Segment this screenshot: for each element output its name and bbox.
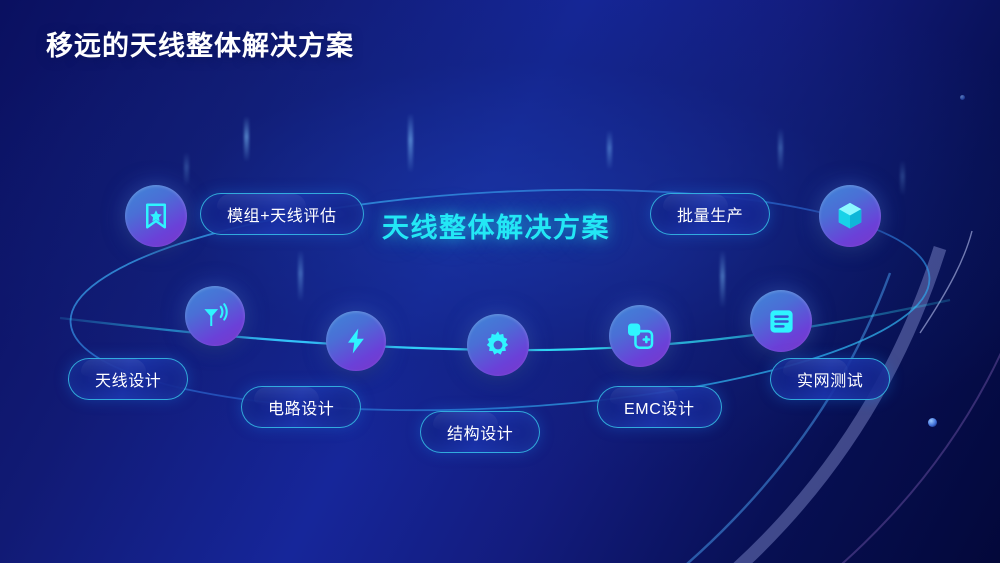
lightning-bolt-icon[interactable] xyxy=(326,311,386,371)
pill-label: EMC设计 xyxy=(624,395,695,419)
light-streak xyxy=(720,250,725,308)
orbit-ring xyxy=(0,0,1000,563)
glow-dot xyxy=(928,418,937,427)
pill-label: 批量生产 xyxy=(677,202,743,226)
pill-mass-production[interactable]: 批量生产 xyxy=(650,193,770,235)
pill-structure-design[interactable]: 结构设计 xyxy=(420,411,540,453)
light-streak xyxy=(778,128,783,172)
gear-icon[interactable] xyxy=(467,314,529,376)
pill-label: 模组+天线评估 xyxy=(227,202,337,226)
corner-arc-decoration xyxy=(520,213,1000,563)
light-streak xyxy=(900,160,905,196)
pill-circuit-design[interactable]: 电路设计 xyxy=(241,386,361,428)
pill-label: 电路设计 xyxy=(268,395,334,419)
center-heading: 天线整体解决方案 xyxy=(382,206,610,245)
light-streak xyxy=(607,130,612,170)
document-lines-icon[interactable] xyxy=(750,290,812,352)
bookmark-star-icon[interactable] xyxy=(125,185,187,247)
background-decoration xyxy=(0,0,1000,563)
pill-live-network-test[interactable]: 实网测试 xyxy=(770,358,890,400)
pill-emc-design[interactable]: EMC设计 xyxy=(597,386,722,428)
antenna-signal-icon[interactable] xyxy=(185,286,245,346)
slide-canvas: 移远的天线整体解决方案 天线整体解决方案 xyxy=(0,0,1000,563)
light-streak xyxy=(408,113,413,173)
light-streak xyxy=(184,152,189,186)
pill-antenna-design[interactable]: 天线设计 xyxy=(68,358,188,400)
cube-icon[interactable] xyxy=(819,185,881,247)
glow-dot xyxy=(960,95,965,100)
overlapping-squares-plus-icon[interactable] xyxy=(609,305,671,367)
pill-label: 结构设计 xyxy=(447,420,513,444)
pill-label: 天线设计 xyxy=(95,367,161,391)
page-title: 移远的天线整体解决方案 xyxy=(46,24,354,63)
pill-label: 实网测试 xyxy=(797,367,863,391)
light-streak xyxy=(244,116,249,162)
pill-module-antenna-evaluation[interactable]: 模组+天线评估 xyxy=(200,193,364,235)
light-streak xyxy=(298,250,303,302)
